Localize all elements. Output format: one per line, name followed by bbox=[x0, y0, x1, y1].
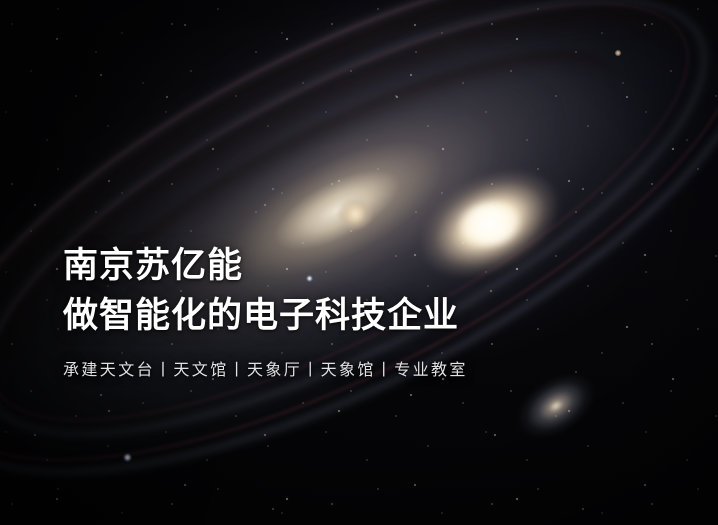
service-list-subline: 承建天文台丨天文馆丨天象厅丨天象馆丨专业教室 bbox=[63, 333, 663, 380]
hero-copy-block: 南京苏亿能 做智能化的电子科技企业 承建天文台丨天文馆丨天象厅丨天象馆丨专业教室 bbox=[63, 248, 663, 380]
headline-secondary: 做智能化的电子科技企业 bbox=[63, 298, 663, 333]
hero-banner: 南京苏亿能 做智能化的电子科技企业 承建天文台丨天文馆丨天象厅丨天象馆丨专业教室 bbox=[0, 0, 718, 525]
headline-primary: 南京苏亿能 bbox=[63, 248, 663, 283]
bright-star-top-right bbox=[615, 50, 621, 56]
bright-star-foreground bbox=[123, 453, 132, 462]
